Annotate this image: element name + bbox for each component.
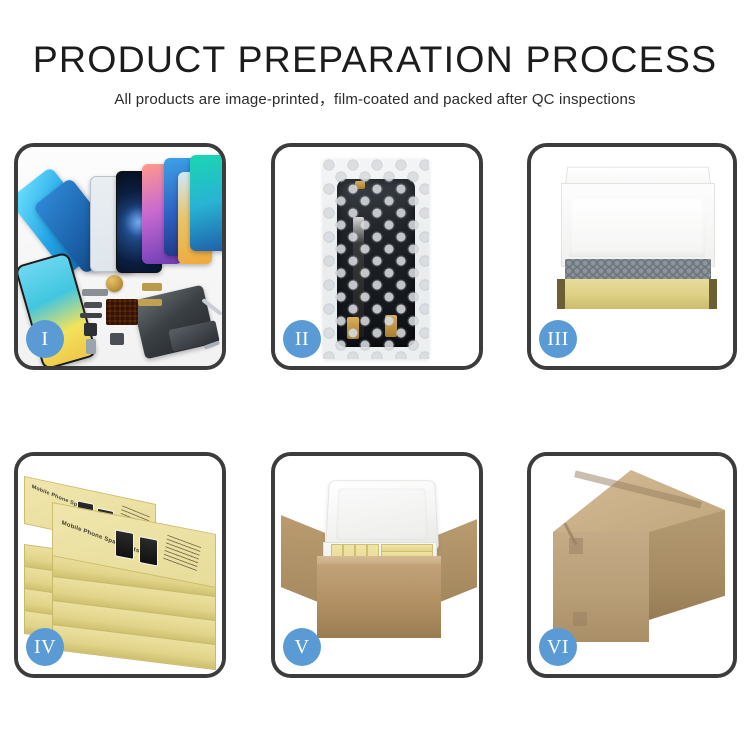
box-label-screen-image — [115, 529, 134, 560]
page-subtitle: All products are image-printed，film-coat… — [0, 88, 750, 109]
carton-tape-tab — [569, 538, 583, 554]
step-panel-6: VI — [527, 452, 737, 678]
flex-cable-part — [84, 302, 102, 308]
sim-tray-part — [86, 339, 96, 354]
step-badge-6: VI — [539, 628, 577, 666]
camera-module-part — [84, 323, 97, 336]
flex-cable-part — [80, 313, 102, 318]
phone-green-gradient — [190, 155, 222, 251]
step-badge-3: III — [539, 320, 577, 358]
antenna-flex-part — [138, 299, 162, 306]
carton-tape-tab — [573, 612, 587, 626]
foam-lid — [325, 480, 439, 550]
page-title: PRODUCT PREPARATION PROCESS — [0, 41, 750, 79]
screw-set-part — [142, 283, 162, 291]
carton-body — [317, 564, 441, 638]
gold-contact-tab — [347, 317, 359, 339]
step-panel-4: Mobile Phone Spare Parts Mobile Phone Sp… — [14, 452, 226, 678]
step-panel-2: II — [271, 143, 483, 370]
step-1-image: I — [18, 147, 222, 366]
speaker-mesh-part — [82, 289, 108, 296]
step-badge-4: IV — [26, 628, 64, 666]
yellow-box-base — [557, 279, 717, 309]
ic-chip-array — [106, 299, 138, 325]
step-panel-3: III — [527, 143, 737, 370]
vibration-motor-part — [106, 275, 123, 292]
box-label-screen-image — [139, 536, 158, 567]
gold-contact-tab — [355, 181, 365, 189]
step-badge-5: V — [283, 628, 321, 666]
carton-front-face — [553, 532, 649, 642]
step-4-image: Mobile Phone Spare Parts Mobile Phone Sp… — [18, 456, 222, 674]
step-panel-1: I — [14, 143, 226, 370]
step-badge-2: II — [283, 320, 321, 358]
box-spec-lines — [163, 535, 201, 572]
step-panel-5: V — [271, 452, 483, 678]
step-badge-1: I — [26, 320, 64, 358]
gold-contact-tab — [385, 315, 397, 337]
yellow-box-corner-tab — [709, 279, 717, 309]
battery-connector-part — [110, 333, 124, 345]
white-foam-sheet — [569, 199, 705, 257]
step-5-image: V — [275, 456, 479, 674]
bubble-wrap-bag — [323, 159, 429, 359]
step-6-image: VI — [531, 456, 733, 674]
step-2-image: II — [275, 147, 479, 366]
step-3-image: III — [531, 147, 733, 366]
yellow-box-corner-tab — [557, 279, 565, 309]
product-preparation-infographic: PRODUCT PREPARATION PROCESS All products… — [0, 0, 750, 750]
